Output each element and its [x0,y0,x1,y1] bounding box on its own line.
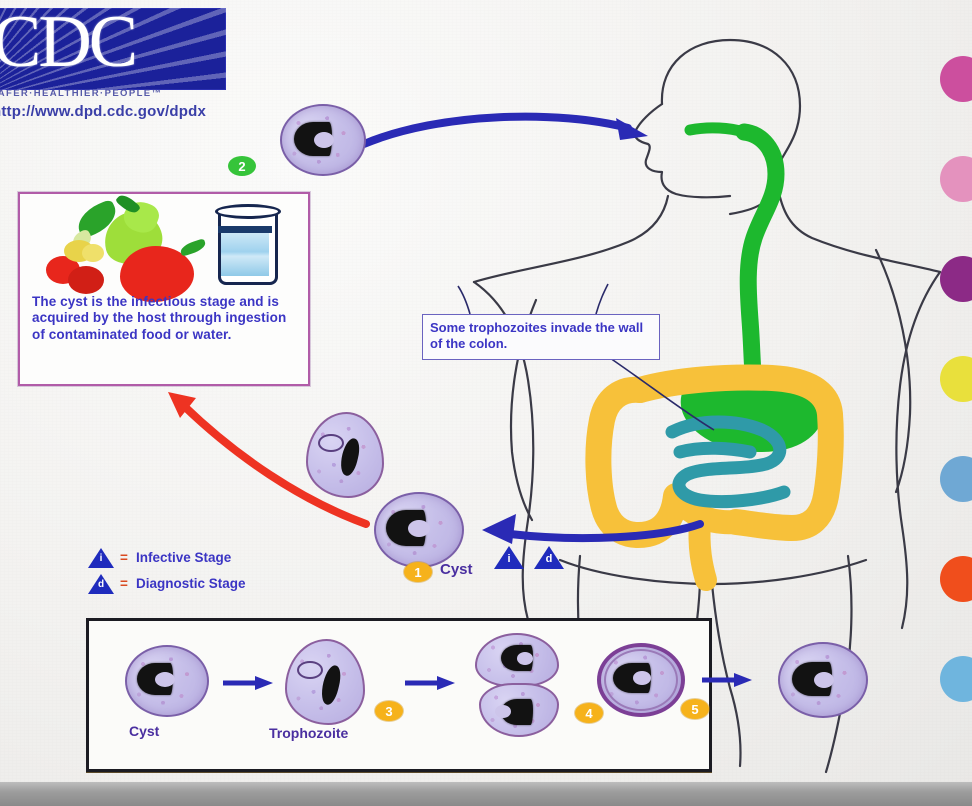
berry-icon-2 [82,244,104,262]
legend-row-diagnostic: d = Diagnostic Stage [88,574,308,596]
chromatoid-notch [155,672,175,687]
legend-equals-1: = [120,576,128,591]
legend-label-diagnostic: Diagnostic Stage [136,576,246,591]
panel-arrow-2 [403,673,459,693]
bottom-gray-strip [0,782,972,806]
food-box-caption: The cyst is the infectious stage and is … [32,294,296,343]
infective-triangle-icon: i [88,548,114,568]
cyst-stage-2 [280,104,366,176]
panel-trophozoite [285,639,365,725]
chromatoid-notch [633,671,651,685]
panel-cyst [125,645,209,717]
panel-immature-cyst [597,643,685,717]
water-line [218,226,272,233]
trophozoite-nucleus-ring [297,661,323,679]
marker-diagnostic: d [534,546,564,570]
daughter-cell-upper [475,633,559,687]
trophozoite-free [306,412,384,498]
panel-arrow-4 [700,670,756,690]
cdc-logo-text: CDC [0,8,135,85]
glass-rim [215,204,281,219]
cdc-url[interactable]: http://www.dpd.cdc.gov/dpdx [0,103,206,120]
stage-1-label: Cyst [440,561,473,578]
chromatoid-notch-lower [495,705,511,718]
panel-mature-cyst [778,642,868,718]
maturation-panel: Cyst Trophozoite 3 [86,618,712,772]
chromatoid-notch [814,672,834,688]
daughter-cell-lower [479,683,559,737]
chromatoid-notch-upper [517,652,533,665]
panel-step-label-trophozoite: Trophozoite [269,725,348,741]
food-water-callout-box: The cyst is the infectious stage and is … [18,192,310,386]
panel-arrow-1 [221,673,277,693]
trophozoite-nucleus-ring [318,434,344,452]
apple-leaf-icon [179,238,207,256]
water-fill [221,232,269,276]
panel-dividing-cyst [471,633,567,737]
legend-row-infective: i = Infective Stage [88,548,308,570]
cdc-tagline: SAFER·HEALTHIER·PEOPLE™ [0,88,162,99]
legend-label-infective: Infective Stage [136,550,231,565]
chromatoid-notch [408,520,430,537]
cdc-logo: CDC [0,8,226,90]
panel-step-label-cyst: Cyst [129,723,159,739]
diagnostic-triangle-icon: d [88,574,114,594]
panel-badge-3: 3 [375,701,403,721]
marker-infective: i [494,546,524,570]
stage-badge-2: 2 [228,156,256,176]
legend: i = Infective Stage d = Diagnostic Stage [88,548,308,596]
legend-equals-0: = [120,550,128,565]
cyst-stage-1 [374,492,464,568]
cdc-lifecycle-diagram: CDC SAFER·HEALTHIER·PEOPLE™ http://www.d… [0,0,972,806]
panel-badge-5: 5 [681,699,709,719]
stage-badge-1: 1 [404,562,432,582]
cherry-icon-2 [68,266,104,294]
colon-callout-text: Some trophozoites invade the wall of the… [430,320,654,353]
colon-invasion-callout: Some trophozoites invade the wall of the… [422,314,660,360]
chromatoid-notch [314,132,334,148]
